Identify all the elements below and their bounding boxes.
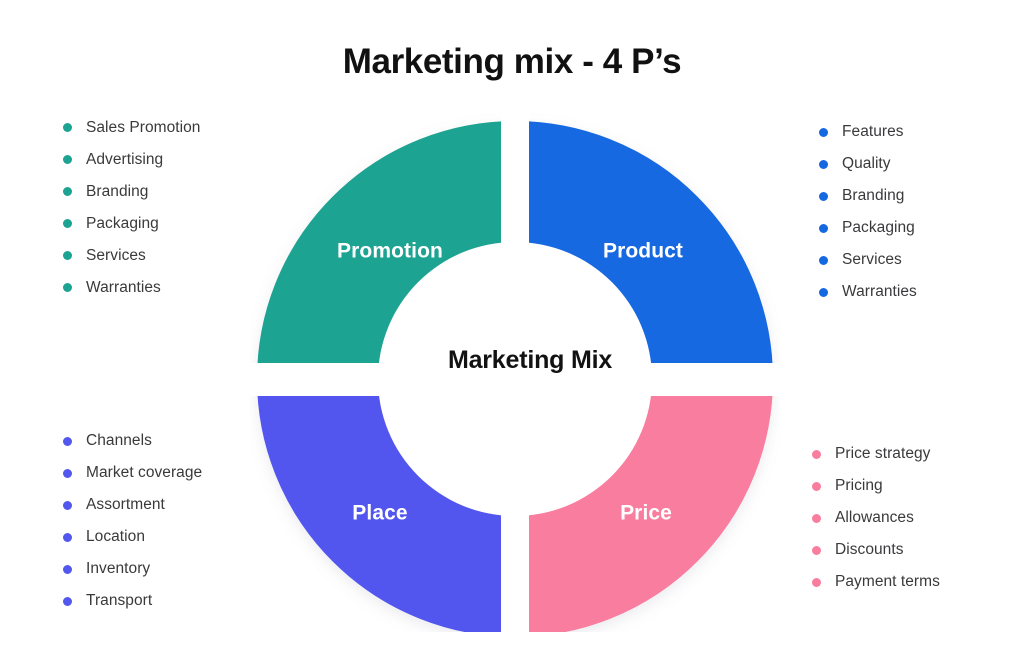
list-item-label: Warranties: [86, 279, 161, 297]
list-item-label: Price strategy: [835, 445, 930, 463]
bullet-icon: [819, 224, 828, 233]
list-item-label: Branding: [842, 187, 904, 205]
list-item[interactable]: Pricing: [812, 470, 962, 502]
bullet-icon: [819, 192, 828, 201]
list-item-label: Discounts: [835, 541, 904, 559]
list-item-label: Inventory: [86, 560, 150, 578]
bullet-icon: [63, 283, 72, 292]
list-item-label: Pricing: [835, 477, 883, 495]
page-title: Marketing mix - 4 P’s: [0, 42, 1024, 82]
list-item[interactable]: Services: [63, 240, 210, 272]
list-item-label: Allowances: [835, 509, 914, 527]
list-item[interactable]: Features: [819, 116, 959, 148]
bullet-icon: [63, 123, 72, 132]
list-item-label: Services: [842, 251, 902, 269]
list-item-label: Packaging: [842, 219, 915, 237]
bullet-icon: [812, 514, 821, 523]
list-item[interactable]: Payment terms: [812, 566, 962, 598]
list-item[interactable]: Sales Promotion: [63, 112, 210, 144]
list-item[interactable]: Discounts: [812, 534, 962, 566]
callout-product: Features Quality Branding Packaging Serv…: [797, 95, 983, 329]
bullet-icon: [63, 533, 72, 542]
list-item-label: Branding: [86, 183, 148, 201]
list-item-label: Features: [842, 123, 904, 141]
callout-promotion: Sales Promotion Advertising Branding Pac…: [41, 95, 234, 320]
list-item[interactable]: Quality: [819, 148, 959, 180]
list-item-label: Channels: [86, 432, 152, 450]
list-item[interactable]: Branding: [63, 176, 210, 208]
bullet-icon: [63, 469, 72, 478]
bullet-icon: [63, 565, 72, 574]
bullet-icon: [63, 251, 72, 260]
callout-promotion-list: Sales Promotion Advertising Branding Pac…: [63, 112, 210, 304]
bullet-icon: [812, 546, 821, 555]
list-item-label: Advertising: [86, 151, 163, 169]
donut-hub: [378, 242, 652, 516]
callout-price-list: Price strategy Pricing Allowances Discou…: [812, 438, 962, 598]
bullet-icon: [819, 160, 828, 169]
bullet-icon: [63, 501, 72, 510]
donut-label-place: Place: [352, 502, 407, 525]
bullet-icon: [812, 482, 821, 491]
list-item-label: Packaging: [86, 215, 159, 233]
bullet-icon: [819, 288, 828, 297]
callout-place: Channels Market coverage Assortment Loca…: [41, 408, 237, 634]
list-item[interactable]: Location: [63, 521, 213, 553]
list-item-label: Transport: [86, 592, 152, 610]
list-item-label: Payment terms: [835, 573, 940, 591]
callout-place-list: Channels Market coverage Assortment Loca…: [63, 425, 213, 617]
donut-label-promotion: Promotion: [337, 240, 443, 263]
bullet-icon: [812, 450, 821, 459]
list-item[interactable]: Market coverage: [63, 457, 213, 489]
list-item-label: Services: [86, 247, 146, 265]
list-item[interactable]: Transport: [63, 585, 213, 617]
marketing-mix-donut: Promotion Product Place Price Marketing …: [250, 112, 780, 632]
list-item[interactable]: Packaging: [63, 208, 210, 240]
list-item[interactable]: Inventory: [63, 553, 213, 585]
list-item-label: Warranties: [842, 283, 917, 301]
list-item-label: Sales Promotion: [86, 119, 200, 137]
list-item[interactable]: Warranties: [63, 272, 210, 304]
list-item[interactable]: Branding: [819, 180, 959, 212]
callout-price: Price strategy Pricing Allowances Discou…: [790, 420, 986, 616]
bullet-icon: [63, 437, 72, 446]
bullet-icon: [63, 155, 72, 164]
bullet-icon: [63, 597, 72, 606]
list-item[interactable]: Services: [819, 244, 959, 276]
bullet-icon: [812, 578, 821, 587]
list-item[interactable]: Advertising: [63, 144, 210, 176]
bullet-icon: [63, 187, 72, 196]
donut-label-product: Product: [603, 240, 683, 263]
donut-label-price: Price: [620, 502, 672, 525]
poster-canvas: Marketing mix - 4 P’s: [0, 0, 1024, 671]
list-item[interactable]: Warranties: [819, 276, 959, 308]
list-item[interactable]: Price strategy: [812, 438, 962, 470]
list-item[interactable]: Allowances: [812, 502, 962, 534]
bullet-icon: [63, 219, 72, 228]
list-item-label: Location: [86, 528, 145, 546]
list-item[interactable]: Assortment: [63, 489, 213, 521]
list-item[interactable]: Channels: [63, 425, 213, 457]
list-item[interactable]: Packaging: [819, 212, 959, 244]
list-item-label: Assortment: [86, 496, 165, 514]
list-item-label: Quality: [842, 155, 891, 173]
callout-product-list: Features Quality Branding Packaging Serv…: [819, 116, 959, 308]
list-item-label: Market coverage: [86, 464, 202, 482]
bullet-icon: [819, 128, 828, 137]
bullet-icon: [819, 256, 828, 265]
